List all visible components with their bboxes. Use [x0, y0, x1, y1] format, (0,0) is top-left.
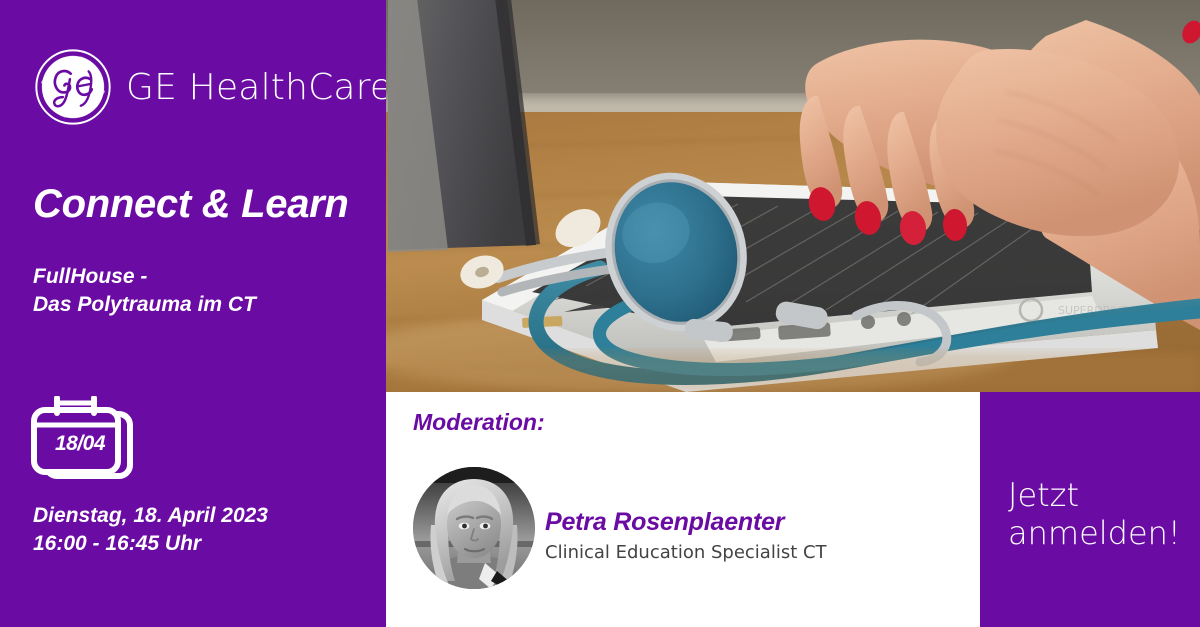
register-cta-button[interactable]: Jetzt anmelden!	[980, 392, 1200, 627]
cta-label: Jetzt anmelden!	[1008, 476, 1181, 553]
ge-monogram-icon	[34, 48, 112, 126]
hero-photo: SUPERDRIVE	[386, 0, 1200, 392]
event-time: 16:00 - 16:45 Uhr	[33, 530, 268, 558]
calendar-date-label: 18/04	[43, 432, 117, 456]
speaker-role: Clinical Education Specialist CT	[545, 542, 827, 563]
avatar	[413, 467, 535, 589]
speaker-name: Petra Rosenplaenter	[545, 508, 827, 537]
moderation-label: Moderation:	[413, 409, 545, 436]
speaker-details: Petra Rosenplaenter Clinical Education S…	[545, 508, 827, 563]
calendar-icon: 18/04	[30, 396, 134, 486]
event-datetime: Dienstag, 18. April 2023 16:00 - 16:45 U…	[33, 502, 268, 558]
page-title: Connect & Learn	[33, 182, 349, 227]
moderation-panel: Moderation:	[386, 392, 980, 627]
left-info-sidebar: GE HealthCare Connect & Learn FullHouse …	[0, 0, 386, 627]
ge-healthcare-wordmark: GE HealthCare	[126, 67, 392, 108]
ge-healthcare-logo: GE HealthCare	[34, 48, 392, 126]
event-subtitle-line1: FullHouse -	[33, 263, 256, 291]
event-subtitle: FullHouse - Das Polytrauma im CT	[33, 263, 256, 319]
event-subtitle-line2: Das Polytrauma im CT	[33, 291, 256, 319]
event-date: Dienstag, 18. April 2023	[33, 502, 268, 530]
cta-label-line2: anmelden!	[1008, 514, 1181, 552]
webinar-promo-banner: GE HealthCare Connect & Learn FullHouse …	[0, 0, 1200, 627]
cta-label-line1: Jetzt	[1008, 476, 1181, 514]
